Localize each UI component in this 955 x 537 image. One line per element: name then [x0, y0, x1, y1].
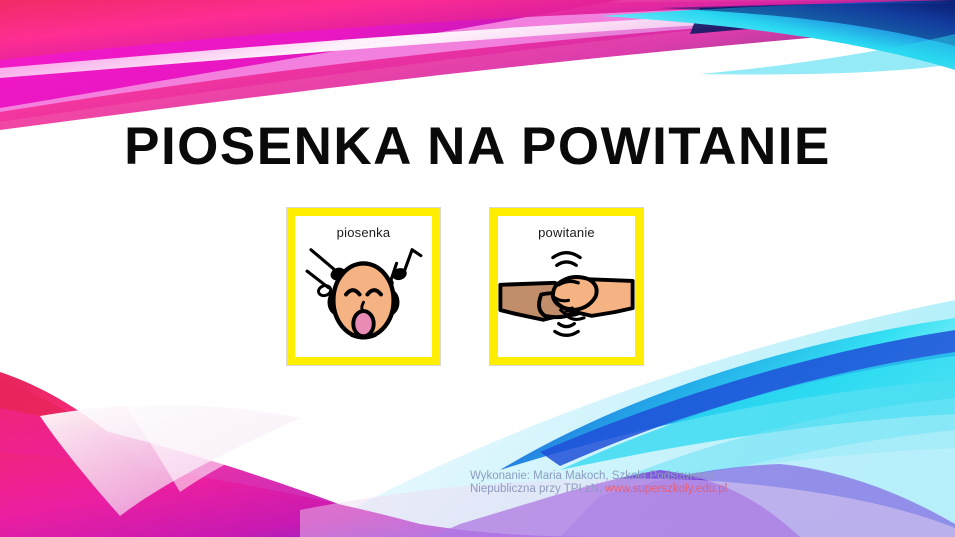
pictogram-label-piosenka: piosenka [295, 225, 432, 240]
page-title: PIOSENKA NA POWITANIE [0, 118, 955, 176]
credit-line-2: Niepubliczna przy TPI zN, www.superszkol… [470, 483, 800, 496]
pictogram-card-piosenka[interactable]: piosenka [287, 208, 440, 365]
credit-line-1: Wykonanie: Maria Makoch, Szkoła Podstawo… [470, 470, 800, 483]
singing-face-icon [295, 242, 432, 347]
credit-url[interactable]: www.superszkoly.edu.pl [605, 483, 727, 495]
pictogram-card-powitanie[interactable]: powitanie [490, 208, 643, 365]
credit-footer: Wykonanie: Maria Makoch, Szkoła Podstawo… [470, 470, 800, 496]
pictogram-label-powitanie: powitanie [498, 225, 635, 240]
slide: PIOSENKA NA POWITANIE piosenka [0, 0, 955, 537]
handshake-icon [498, 242, 635, 347]
credit-line-2-prefix: Niepubliczna przy TPI zN, [470, 483, 605, 495]
pictogram-card-group: piosenka [287, 208, 643, 365]
